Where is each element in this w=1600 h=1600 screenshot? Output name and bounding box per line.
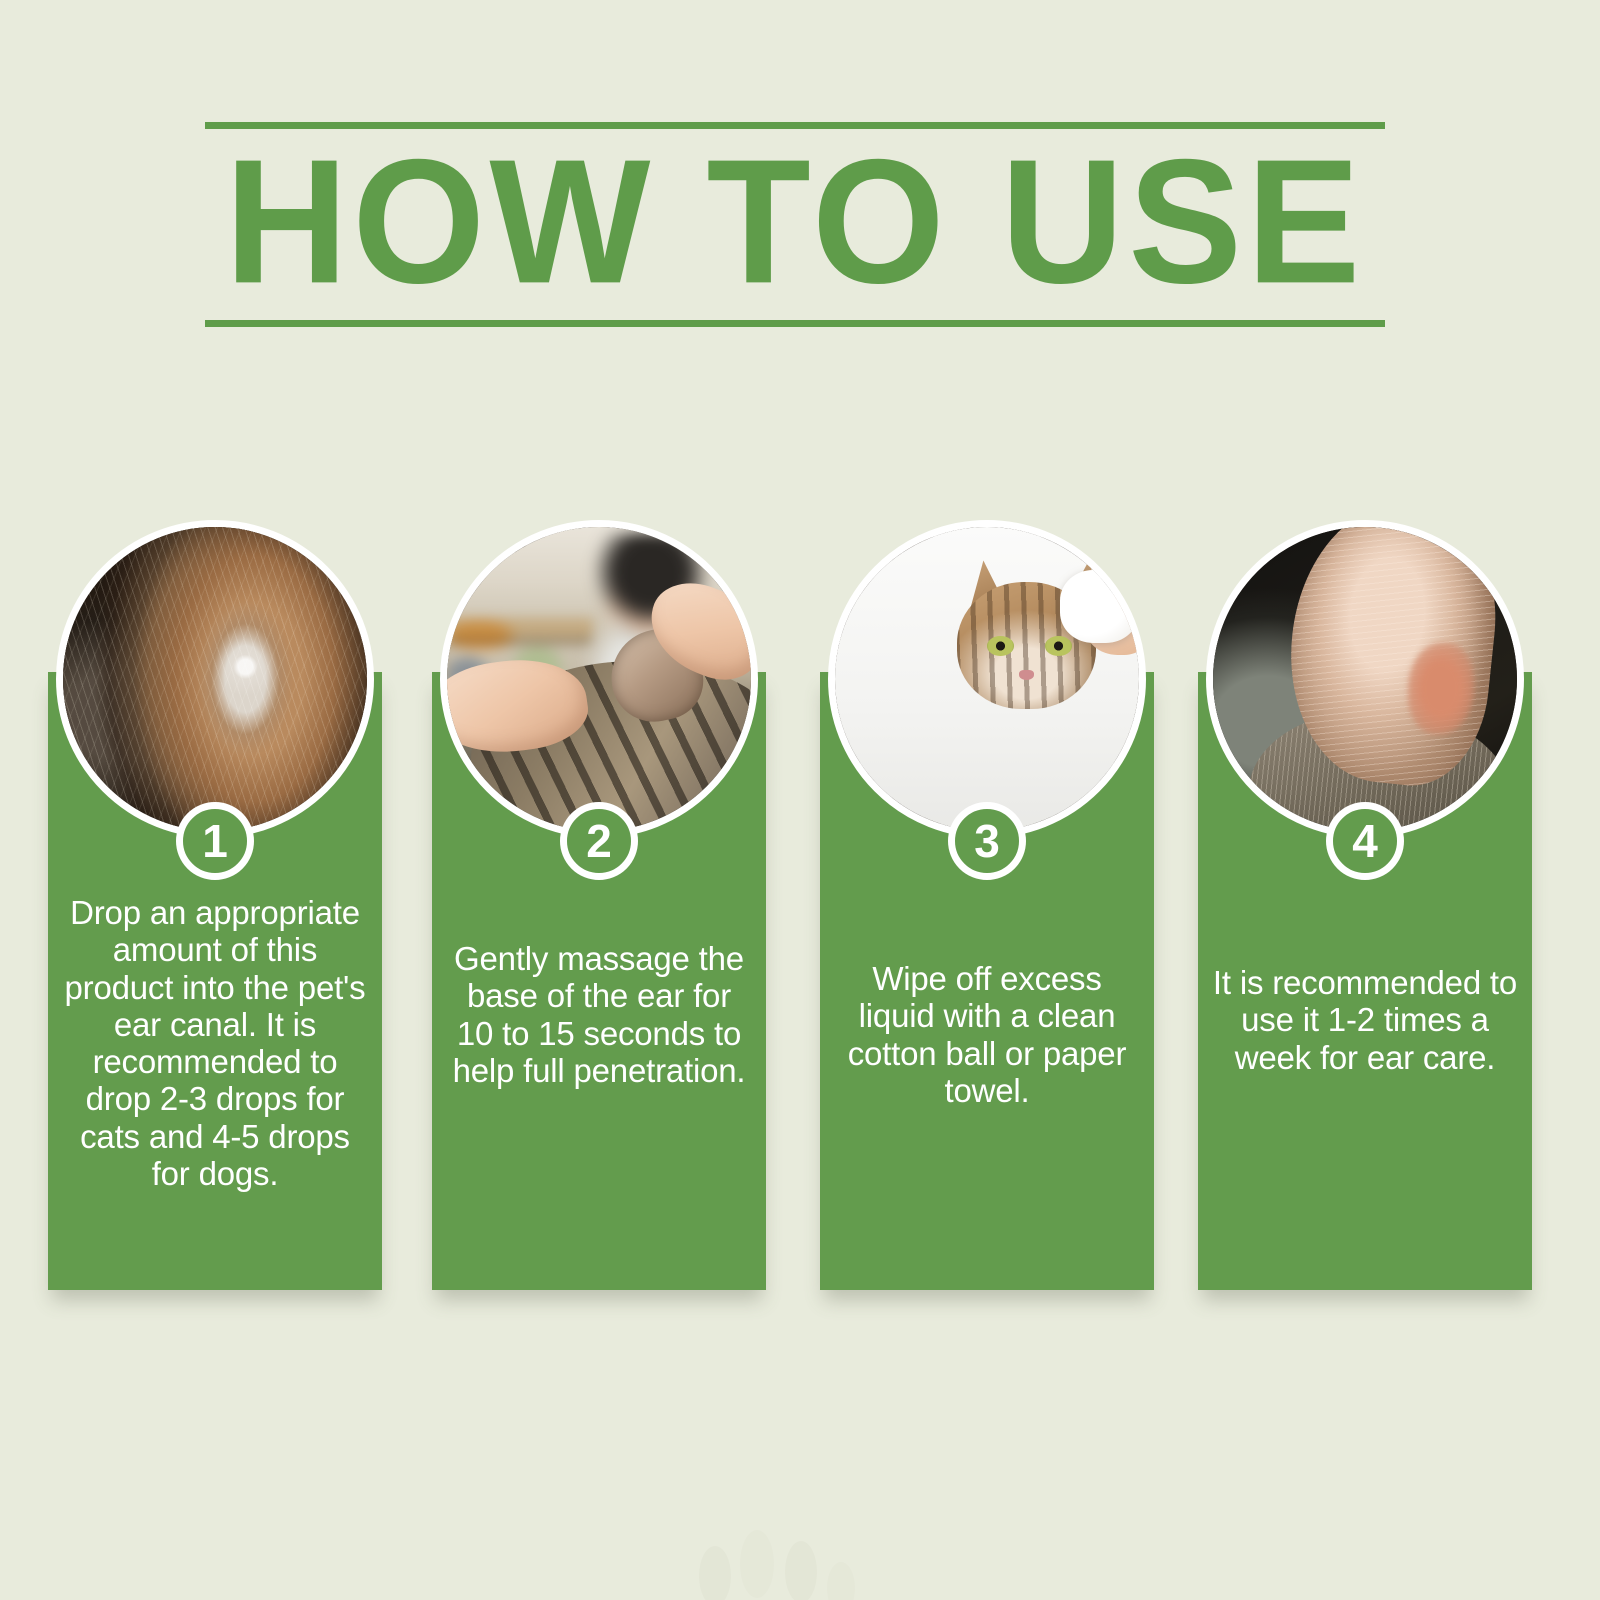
step-4-photo (1206, 520, 1524, 838)
cat-ear-drop-image (63, 527, 367, 831)
step-4-number: 4 (1352, 818, 1378, 864)
cat-inner-ear (1408, 643, 1475, 734)
steps-row: 1 Drop an appropriate amount of this pro… (0, 0, 1600, 1600)
step-card-4: 4 It is recommended to use it 1-2 times … (1198, 672, 1532, 1290)
step-4-text: It is recommended to use it 1-2 times a … (1212, 964, 1518, 1076)
step-2-text: Gently massage the base of the ear for 1… (446, 940, 752, 1089)
paw-watermark-icon (655, 1480, 895, 1600)
step-2-badge: 2 (560, 802, 638, 880)
how-to-use-poster: HOW TO USE 1 Drop an appropriate amount … (0, 0, 1600, 1600)
cotton-pad (1060, 570, 1139, 643)
step-1-badge: 1 (176, 802, 254, 880)
step-card-2: 2 Gently massage the base of the ear for… (432, 672, 766, 1290)
step-2-photo (440, 520, 758, 838)
cat-cotton-pad-image (835, 527, 1139, 831)
step-3-number: 3 (974, 818, 1000, 864)
step-3-badge: 3 (948, 802, 1026, 880)
step-card-1: 1 Drop an appropriate amount of this pro… (48, 672, 382, 1290)
cat-ear-macro-image (1213, 527, 1517, 831)
step-2-number: 2 (586, 818, 612, 864)
step-card-3: 3 Wipe off excess liquid with a clean co… (820, 672, 1154, 1290)
step-4-badge: 4 (1326, 802, 1404, 880)
step-3-text: Wipe off excess liquid with a clean cott… (834, 960, 1140, 1109)
step-1-text: Drop an appropriate amount of this produ… (62, 894, 368, 1192)
cat-ear-massage-image (447, 527, 751, 831)
step-1-number: 1 (202, 818, 228, 864)
step-3-photo (828, 520, 1146, 838)
step-1-photo (56, 520, 374, 838)
